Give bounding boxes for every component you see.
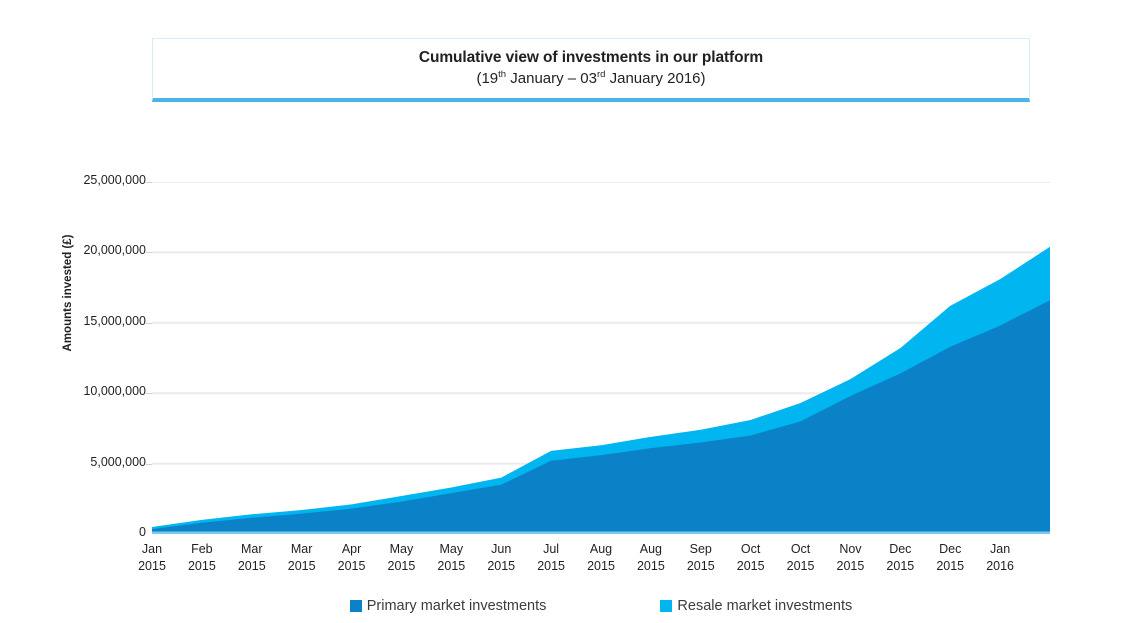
y-axis-tick-label: 25,000,000 [46, 173, 146, 187]
y-axis-tick-label: 15,000,000 [46, 314, 146, 328]
stacked-area-chart [152, 182, 1050, 534]
y-axis-tick-label: 0 [46, 525, 146, 539]
plot-area [152, 182, 1050, 534]
legend-item-resale[interactable]: Resale market investments [660, 598, 852, 614]
y-axis-tick-mark [146, 393, 152, 394]
x-label-year: 2016 [970, 558, 1030, 575]
subtitle-ordinal-th: th [498, 69, 506, 80]
y-axis-tick-mark [146, 252, 152, 253]
legend-swatch-primary-icon [350, 600, 362, 612]
chart-title: Cumulative view of investments in our pl… [419, 48, 763, 67]
y-axis-tick-label: 5,000,000 [46, 455, 146, 469]
legend-label-primary: Primary market investments [367, 598, 547, 614]
y-axis-tick-label: 10,000,000 [46, 384, 146, 398]
x-axis-tick-label: Jan2016 [970, 541, 1030, 575]
chart-page: Cumulative view of investments in our pl… [0, 0, 1121, 623]
y-axis-tick-mark [146, 464, 152, 465]
chart-title-box: Cumulative view of investments in our pl… [152, 38, 1030, 102]
primary-market-area [152, 300, 1050, 534]
legend-swatch-resale-icon [660, 600, 672, 612]
x-axis-labels: Jan2015Feb2015Mar2015Mar2015Apr2015May20… [152, 541, 1050, 581]
subtitle-suffix: January 2016) [605, 70, 705, 87]
legend-item-primary[interactable]: Primary market investments [350, 598, 547, 614]
chart-legend: Primary market investments Resale market… [152, 593, 1050, 619]
subtitle-middle: January – 03 [506, 70, 597, 87]
y-axis-ticks: 25,000,00020,000,00015,000,00010,000,000… [42, 0, 146, 623]
y-axis-tick-mark [146, 182, 152, 183]
x-label-month: Jan [970, 541, 1030, 558]
y-axis-tick-label: 20,000,000 [46, 243, 146, 257]
legend-label-resale: Resale market investments [677, 598, 852, 614]
chart-subtitle: (19th January – 03rd January 2016) [476, 69, 705, 89]
subtitle-prefix: (19 [476, 70, 498, 87]
y-axis-tick-mark [146, 323, 152, 324]
